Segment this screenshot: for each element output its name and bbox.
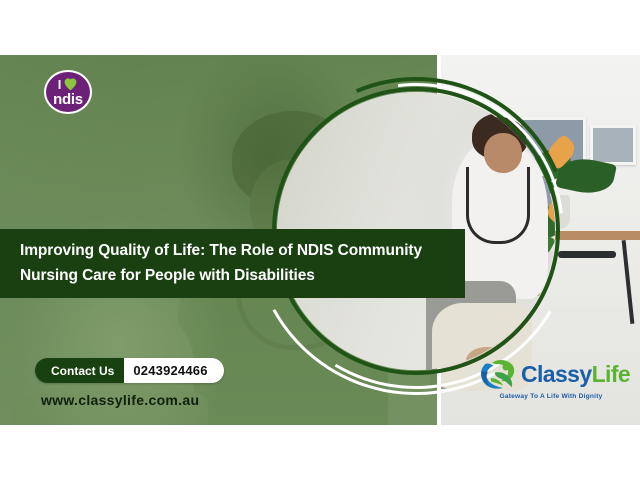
ndis-badge-lead: I [58, 78, 62, 91]
logo-word-life: Life [592, 361, 631, 387]
desk-leg [622, 240, 635, 324]
ndis-community-nursing-banner: I ndis Improving Quality of Life: The Ro… [0, 55, 640, 425]
ndis-badge: I ndis [44, 70, 92, 114]
contact-us-label: Contact Us [35, 358, 124, 383]
logo-tagline: Gateway To A Life With Dignity [478, 393, 624, 400]
heart-icon [63, 77, 78, 91]
wall-picture-frame-secondary [590, 125, 636, 165]
logo-top-row: ClassyLife [478, 356, 624, 392]
classylife-logo[interactable]: ClassyLife Gateway To A Life With Dignit… [478, 356, 624, 408]
page-title: Improving Quality of Life: The Role of N… [20, 238, 450, 288]
website-url[interactable]: www.classylife.com.au [41, 392, 199, 408]
headline-band: Improving Quality of Life: The Role of N… [0, 229, 465, 298]
logo-wordmark: ClassyLife [521, 363, 630, 386]
contact-pill[interactable]: Contact Us 0243924466 [35, 358, 224, 383]
ndis-badge-top-row: I [58, 77, 79, 91]
contact-phone-number[interactable]: 0243924466 [124, 358, 223, 383]
classylife-swoosh-figure-icon [478, 357, 520, 391]
logo-word-classy: Classy [521, 361, 592, 387]
banner-canvas: I ndis Improving Quality of Life: The Ro… [0, 0, 640, 480]
ndis-badge-word: ndis [53, 92, 83, 107]
